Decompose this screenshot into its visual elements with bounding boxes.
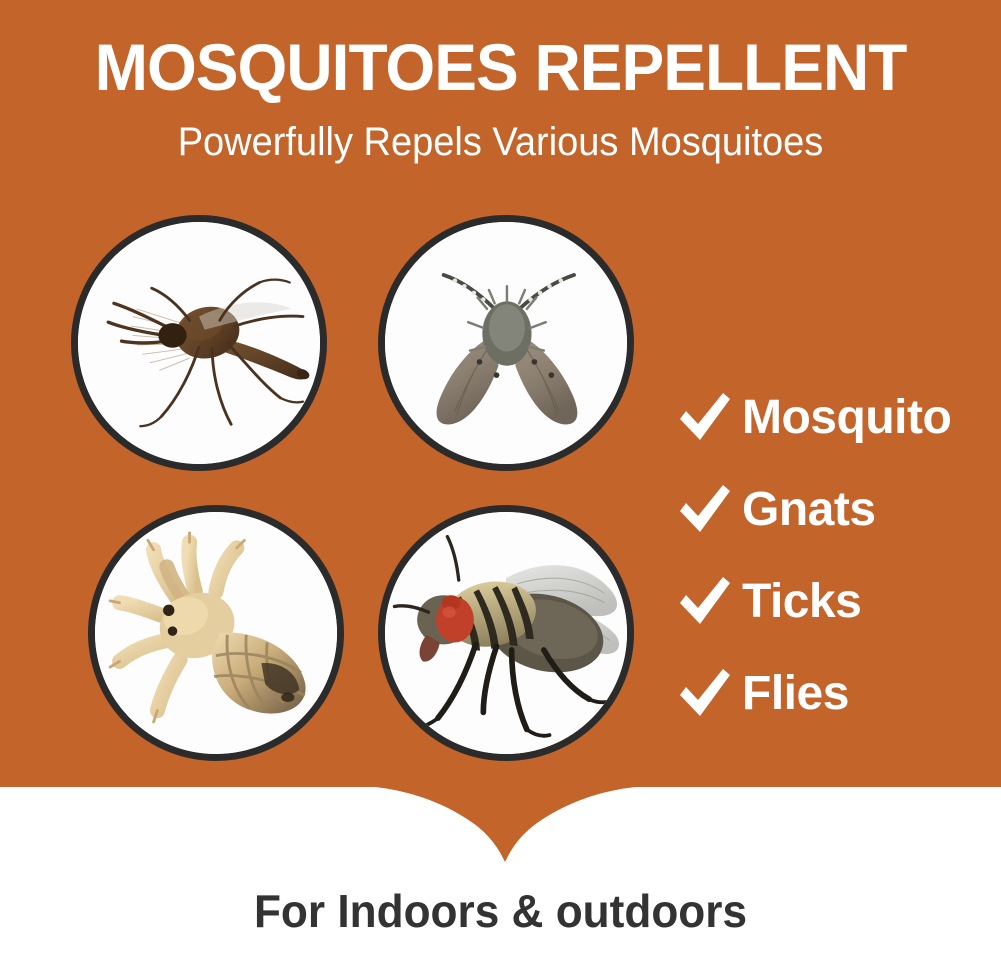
check-icon [676, 484, 732, 536]
pest-photo-tick [88, 505, 344, 761]
tick-photo [95, 512, 337, 754]
panel-pointer-tab [355, 784, 655, 864]
check-icon [676, 576, 732, 628]
checklist-label: Flies [742, 670, 849, 718]
checklist-item: Ticks [676, 556, 996, 648]
page-title: MOSQUITOES REPELLENT [15, 34, 986, 100]
pest-photo-mosquito [71, 215, 327, 471]
checklist-item: Flies [676, 648, 996, 740]
checklist-item: Gnats [676, 464, 996, 556]
checklist-item: Mosquito [676, 372, 996, 464]
checklist-label: Gnats [742, 486, 876, 534]
pest-checklist: Mosquito Gnats Ticks [676, 372, 996, 740]
check-icon [676, 392, 732, 444]
checklist-label: Mosquito [742, 394, 951, 442]
check-icon [676, 668, 732, 720]
product-infographic: MOSQUITOES REPELLENT Powerfully Repels V… [0, 0, 1001, 953]
gnat-photo [385, 222, 627, 464]
checklist-label: Ticks [742, 578, 861, 626]
footer-tagline: For Indoors & outdoors [20, 888, 981, 934]
fly-photo [385, 512, 627, 754]
pest-photo-fly [378, 505, 634, 761]
pest-photo-gnat [378, 215, 634, 471]
mosquito-photo [78, 222, 320, 464]
page-subtitle: Powerfully Repels Various Mosquitoes [25, 122, 976, 162]
